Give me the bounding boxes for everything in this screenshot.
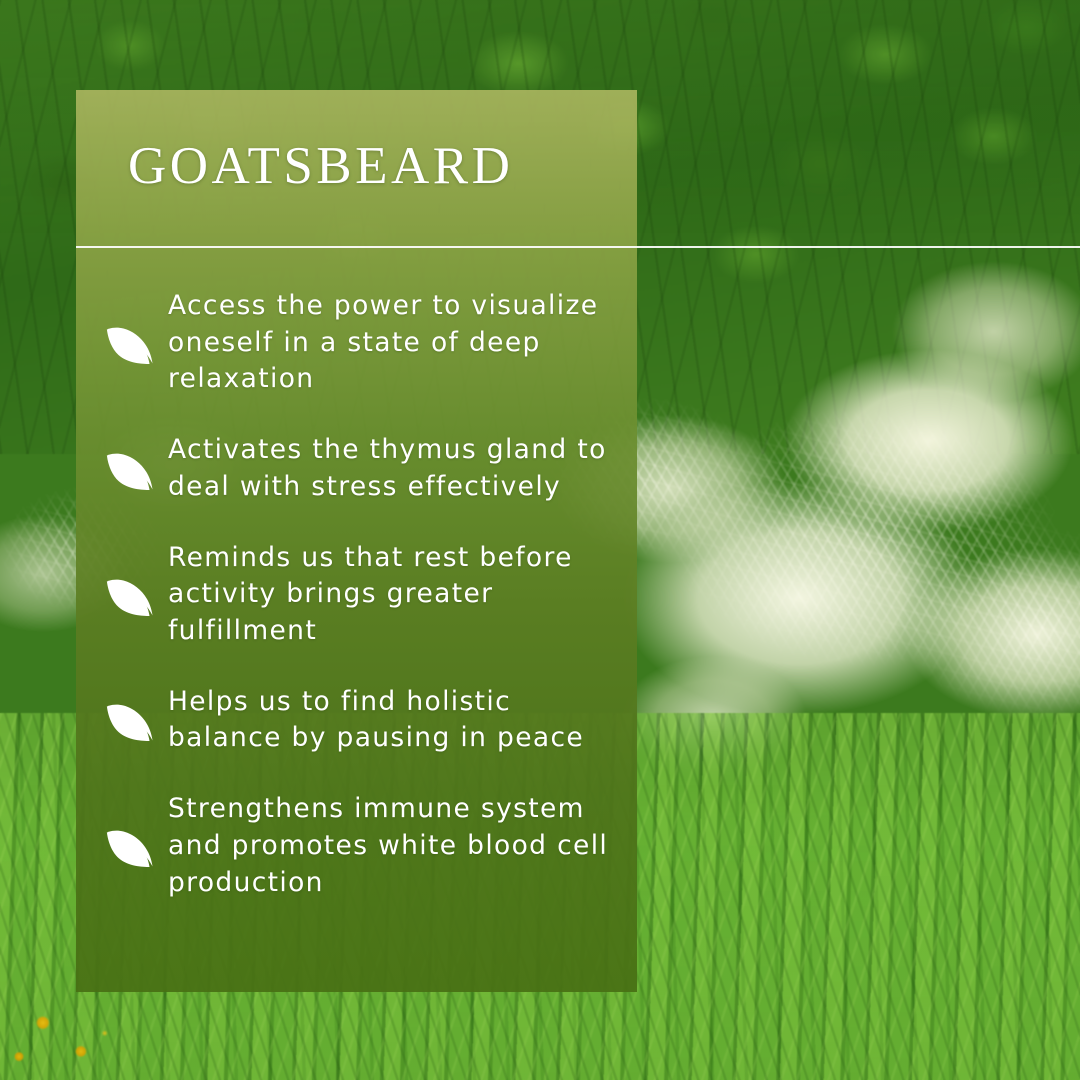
- list-item-label: Strengthens immune system and promotes w…: [162, 791, 637, 901]
- leaf-icon: [100, 441, 162, 497]
- leaf-icon: [100, 692, 162, 748]
- benefits-list: Access the power to visualize oneself in…: [76, 288, 637, 922]
- list-item-label: Reminds us that rest before activity bri…: [162, 540, 637, 650]
- list-item: Activates the thymus gland to deal with …: [76, 419, 637, 519]
- leaf-icon: [100, 315, 162, 371]
- list-item-label: Helps us to find holistic balance by pau…: [162, 684, 637, 757]
- list-item: Helps us to find holistic balance by pau…: [76, 670, 637, 770]
- list-item: Strengthens immune system and promotes w…: [76, 791, 637, 901]
- list-item-label: Activates the thymus gland to deal with …: [162, 432, 637, 505]
- list-item: Reminds us that rest before activity bri…: [76, 540, 637, 650]
- leaf-icon: [100, 818, 162, 874]
- leaf-icon: [100, 567, 162, 623]
- list-item-label: Access the power to visualize oneself in…: [162, 288, 637, 398]
- page-title: GOATSBEARD: [128, 136, 513, 196]
- poster-canvas: GOATSBEARD Access the power to visualize…: [0, 0, 1080, 1080]
- list-item: Access the power to visualize oneself in…: [76, 288, 637, 398]
- header-divider: [76, 246, 1080, 248]
